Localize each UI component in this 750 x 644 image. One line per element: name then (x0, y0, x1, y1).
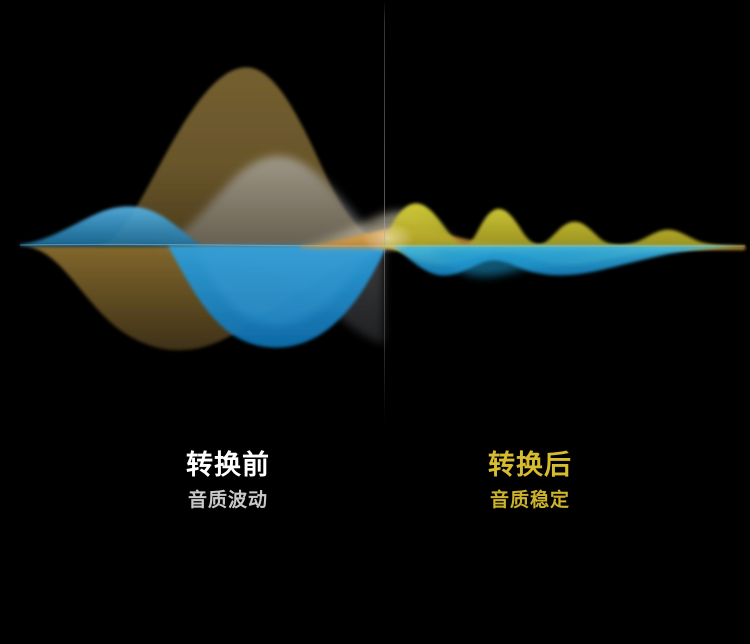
caption-before-subtitle: 音质波动 (88, 488, 368, 514)
caption-before-title: 转换前 (88, 448, 368, 482)
caption-after: 转换后 音质稳定 (390, 448, 670, 514)
before-after-divider (384, 0, 385, 424)
caption-after-title: 转换后 (390, 448, 670, 482)
series-yellow-crests (382, 203, 745, 248)
caption-before: 转换前 音质波动 (88, 448, 368, 514)
split-glow (362, 222, 414, 254)
waveform-graphic (0, 0, 750, 440)
waveform-comparison-canvas: 转换前 音质波动 转换后 音质稳定 (0, 0, 750, 644)
caption-after-subtitle: 音质稳定 (390, 488, 670, 514)
